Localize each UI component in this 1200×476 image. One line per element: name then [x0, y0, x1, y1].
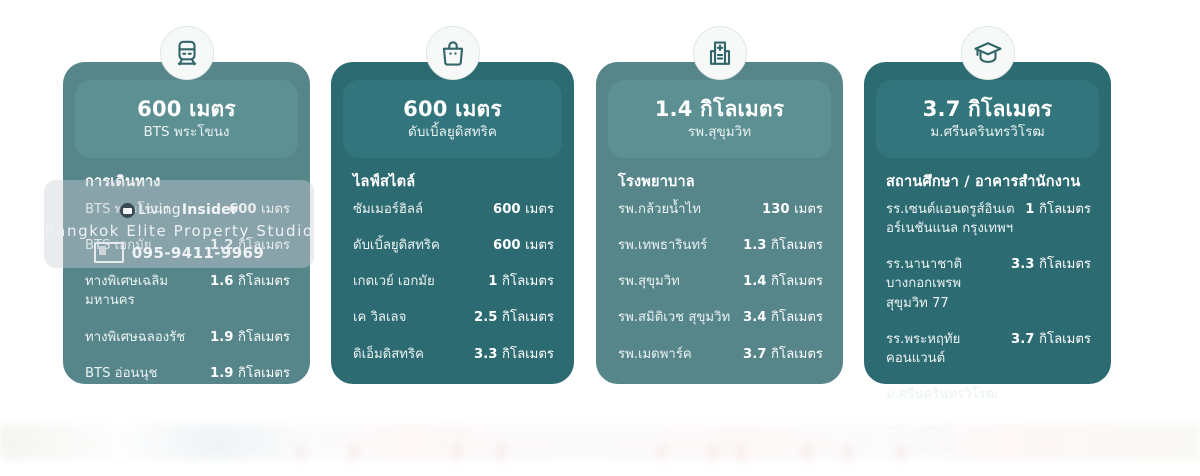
- header-place-name: รพ.สุขุมวิท: [688, 124, 751, 140]
- section-title: ไลฟ์สไตล์: [353, 170, 415, 193]
- place-name: รร.พระหฤทัยคอนแวนต์: [886, 330, 1003, 368]
- section-title: โรงพยาบาล: [618, 170, 695, 193]
- livinginsider-logo-icon: [120, 203, 135, 218]
- place-distance: 3.3 กิโลเมตร: [474, 345, 554, 364]
- place-name: ดับเบิ้ลยูดิสทริค: [353, 236, 485, 255]
- shopping-bag-icon: [426, 26, 480, 80]
- place-name: รร.นานาชาติบางกอกเพรพ สุขุมวิท 77: [886, 255, 1003, 312]
- place-list: ซัมเมอร์ฮิลล์ 600 เมตร ดับเบิ้ลยูดิสทริค…: [353, 200, 554, 381]
- header-distance: 600 เมตร: [137, 97, 236, 121]
- place-distance: 1.9 กิโลเมตร: [210, 328, 290, 347]
- nearby-places-board: 600 เมตร BTS พระโขนง การเดินทาง BTS พระโ…: [0, 0, 1200, 460]
- card-lifestyle: 600 เมตร ดับเบิ้ลยูดิสทริค ไลฟ์สไตล์ ซัม…: [331, 62, 574, 384]
- place-distance: 3.7 กิโลเมตร: [1011, 385, 1091, 404]
- list-item: รพ.สมิติเวช สุขุมวิท 3.4 กิโลเมตร: [618, 308, 823, 327]
- watermark-overlay: Living Insider Bangkok Elite Property St…: [44, 180, 314, 268]
- list-item: ทางพิเศษเฉลิมมหานคร 1.6 กิโลเมตร: [85, 272, 290, 310]
- card-hospital: 1.4 กิโลเมตร รพ.สุขุมวิท โรงพยาบาล รพ.กล…: [596, 62, 843, 384]
- list-item: รพ.กล้วยน้ำไท 130 เมตร: [618, 200, 823, 219]
- place-distance: 3.7 กิโลเมตร: [1011, 330, 1091, 349]
- list-item: รร.พระหฤทัยคอนแวนต์ 3.7 กิโลเมตร: [886, 330, 1091, 368]
- place-distance: 1.4 กิโลเมตร: [743, 272, 823, 291]
- train-icon: [160, 26, 214, 80]
- header-place-name: BTS พระโขนง: [143, 124, 229, 140]
- header-distance: 1.4 กิโลเมตร: [655, 97, 785, 121]
- list-item: รพ.เทพธารินทร์ 1.3 กิโลเมตร: [618, 236, 823, 255]
- place-distance: 1 กิโลเมตร: [488, 272, 554, 291]
- place-distance: 3.4 กิโลเมตร: [743, 308, 823, 327]
- place-name: รพ.สมิติเวช สุขุมวิท: [618, 308, 735, 327]
- list-item: ม.ศรีนครินทรวิโรฒ 3.7 กิโลเมตร: [886, 385, 1091, 404]
- place-name: ทางพิเศษเฉลิมมหานคร: [85, 272, 202, 310]
- place-distance: 1.3 กิโลเมตร: [743, 236, 823, 255]
- place-name: เค วิลเลจ: [353, 308, 466, 327]
- graduation-cap-icon: [961, 26, 1015, 80]
- place-distance: 600 เมตร: [493, 236, 554, 255]
- place-distance: 1 กิโลเมตร: [1025, 200, 1091, 219]
- place-distance: 3.3 กิโลเมตร: [1011, 255, 1091, 274]
- list-item: รพ.เมดพาร์ค 3.7 กิโลเมตร: [618, 345, 823, 364]
- card-header-panel: 600 เมตร BTS พระโขนง: [75, 80, 298, 158]
- list-item: รร.นานาชาติบางกอกเพรพ สุขุมวิท 77 3.3 กิ…: [886, 255, 1091, 312]
- card-education: 3.7 กิโลเมตร ม.ศรีนครินทรวิโรฒ สถานศึกษา…: [864, 62, 1111, 384]
- list-item: รร.เซนต์แอนดรูส์อินเตอร์เนชันแนล กรุงเทพ…: [886, 200, 1091, 238]
- place-list: รพ.กล้วยน้ำไท 130 เมตร รพ.เทพธารินทร์ 1.…: [618, 200, 823, 381]
- header-place-name: ม.ศรีนครินทรวิโรฒ: [930, 124, 1044, 140]
- place-distance: 1.9 กิโลเมตร: [210, 364, 290, 383]
- place-name: รพ.เทพธารินทร์: [618, 236, 735, 255]
- place-name: รร.เซนต์แอนดรูส์อินเตอร์เนชันแนล กรุงเทพ…: [886, 200, 1017, 238]
- place-distance: 1.6 กิโลเมตร: [210, 272, 290, 291]
- card-header-panel: 600 เมตร ดับเบิ้ลยูดิสทริค: [343, 80, 562, 158]
- place-name: BTS อ่อนนุช: [85, 364, 202, 383]
- card-header-panel: 3.7 กิโลเมตร ม.ศรีนครินทรวิโรฒ: [876, 80, 1099, 158]
- list-item: ทางพิเศษฉลองรัช 1.9 กิโลเมตร: [85, 328, 290, 347]
- list-item: ดับเบิ้ลยูดิสทริค 600 เมตร: [353, 236, 554, 255]
- watermark-phone: 095-9411-9969: [44, 242, 314, 263]
- place-name: เกตเวย์ เอกมัย: [353, 272, 480, 291]
- phone-badge-icon: [94, 242, 124, 263]
- header-distance: 3.7 กิโลเมตร: [923, 97, 1053, 121]
- header-place-name: ดับเบิ้ลยูดิสทริค: [408, 124, 497, 140]
- list-item: ซัมเมอร์ฮิลล์ 600 เมตร: [353, 200, 554, 219]
- place-name: ดิเอ็มดิสทริค: [353, 345, 466, 364]
- watermark-studio-name: Bangkok Elite Property Studio: [44, 222, 314, 240]
- place-name: ซัมเมอร์ฮิลล์: [353, 200, 485, 219]
- list-item: รพ.สุขุมวิท 1.4 กิโลเมตร: [618, 272, 823, 291]
- place-name: รพ.กล้วยน้ำไท: [618, 200, 754, 219]
- list-item: เกตเวย์ เอกมัย 1 กิโลเมตร: [353, 272, 554, 291]
- header-distance: 600 เมตร: [403, 97, 502, 121]
- hospital-icon: [693, 26, 747, 80]
- watermark-brand-light: Living: [138, 202, 181, 218]
- section-title: สถานศึกษา / อาคารสำนักงาน: [886, 170, 1080, 193]
- watermark-phone-number: 095-9411-9969: [132, 244, 264, 262]
- place-name: รพ.สุขุมวิท: [618, 272, 735, 291]
- place-name: ทางพิเศษฉลองรัช: [85, 328, 202, 347]
- card-header-panel: 1.4 กิโลเมตร รพ.สุขุมวิท: [608, 80, 831, 158]
- list-item: ดิเอ็มดิสทริค 3.3 กิโลเมตร: [353, 345, 554, 364]
- list-item: เค วิลเลจ 2.5 กิโลเมตร: [353, 308, 554, 327]
- list-item: BTS อ่อนนุช 1.9 กิโลเมตร: [85, 364, 290, 383]
- place-distance: 600 เมตร: [493, 200, 554, 219]
- place-name: ม.ศรีนครินทรวิโรฒ: [886, 385, 1003, 404]
- place-distance: 130 เมตร: [762, 200, 823, 219]
- watermark-brand-bold: Insider: [182, 202, 238, 218]
- watermark-brand: Living Insider: [44, 202, 314, 218]
- place-distance: 2.5 กิโลเมตร: [474, 308, 554, 327]
- page-bottom-strip: [0, 424, 1200, 460]
- place-distance: 3.7 กิโลเมตร: [743, 345, 823, 364]
- place-name: รพ.เมดพาร์ค: [618, 345, 735, 364]
